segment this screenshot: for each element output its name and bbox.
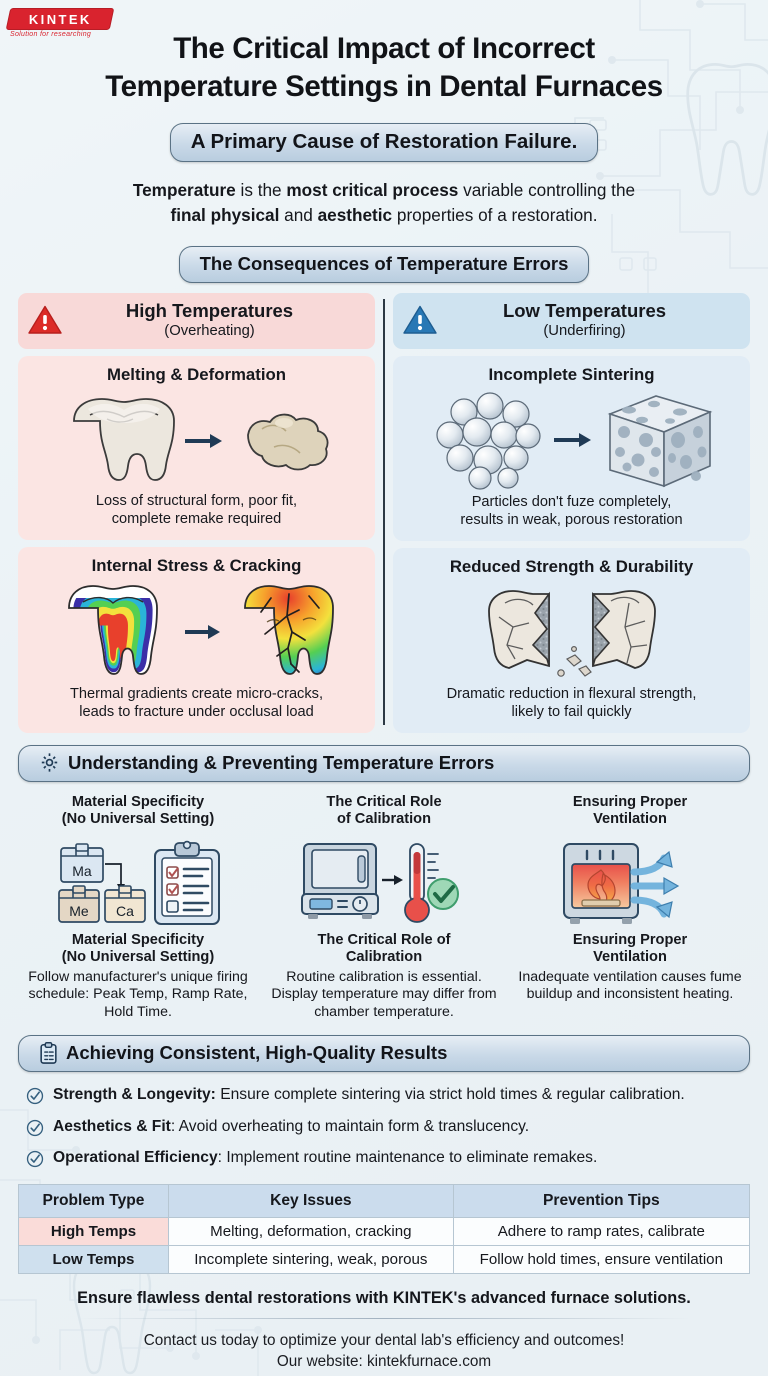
lead-bold-2: most critical process — [286, 180, 458, 200]
check-circle-icon — [26, 1085, 44, 1105]
title-line1: The Critical Role of — [318, 932, 451, 948]
prevention-column-calibration: The Critical Role of Calibration — [264, 794, 504, 1022]
table-row: Low Temps Incomplete sintering, weak, po… — [19, 1246, 750, 1274]
lead-bold-3: final physical — [170, 205, 279, 225]
gear-icon — [39, 752, 60, 773]
list-item-body: : Avoid overheating to maintain form & t… — [171, 1118, 529, 1135]
prevention-heading: The Critical Role of Calibration — [269, 794, 499, 829]
table-cell-tips: Adhere to ramp rates, calibrate — [453, 1218, 749, 1246]
high-temp-title: High Temperatures — [72, 301, 347, 321]
heading-line1: Material Specificity — [72, 794, 204, 810]
table-header-cell: Prevention Tips — [453, 1185, 749, 1218]
low-temp-subtitle: (Underfiring) — [447, 322, 722, 340]
check-circle-icon — [26, 1148, 44, 1168]
list-item: Strength & Longevity: Ensure complete si… — [26, 1085, 742, 1105]
list-item-label: Operational Efficiency — [53, 1149, 218, 1166]
list-item: Aesthetics & Fit: Avoid overheating to m… — [26, 1117, 742, 1137]
table-header-cell: Problem Type — [19, 1185, 169, 1218]
logo-text: KINTEK — [29, 12, 92, 27]
low-temperature-column: Low Temperatures (Underfiring) Incomplet… — [393, 293, 750, 733]
title-line1: Material Specificity — [72, 932, 204, 948]
card-melting-deformation: Melting & Deformation — [18, 356, 375, 540]
column-divider — [383, 299, 385, 725]
card-reduced-strength-durability: Reduced Strength & Durability — [393, 548, 750, 733]
card-caption: Thermal gradients create micro-cracks, l… — [26, 686, 367, 722]
card-caption: Particles don't fuze completely, results… — [401, 494, 742, 530]
low-temp-header: Low Temperatures (Underfiring) — [393, 293, 750, 350]
caption-line2: results in weak, porous restoration — [460, 512, 682, 528]
title-line2: (No Universal Setting) — [62, 949, 214, 965]
material-boxes-checklist-icon: Ma Me — [23, 834, 253, 930]
caption-line2: likely to fail quickly — [511, 704, 631, 720]
table-cell-type: High Temps — [19, 1218, 169, 1246]
footer-contact: Contact us today to optimize your dental… — [18, 1331, 750, 1372]
prevention-column-material-specificity: Material Specificity (No Universal Setti… — [18, 794, 258, 1022]
lead-text-4: properties of a restoration. — [392, 205, 597, 225]
results-section-label: Achieving Consistent, High-Quality Resul… — [66, 1042, 447, 1064]
prevention-body: Follow manufacturer's unique firing sche… — [23, 969, 253, 1022]
heading-line2: Ventilation — [593, 811, 667, 827]
card-caption: Dramatic reduction in flexural strength,… — [401, 686, 742, 722]
page-title-line1: The Critical Impact of Incorrect — [18, 30, 750, 68]
svg-text:Me: Me — [69, 903, 89, 919]
card-internal-stress-cracking: Internal Stress & Cracking — [18, 547, 375, 733]
card-title: Reduced Strength & Durability — [401, 557, 742, 577]
prevention-section-title: Understanding & Preventing Temperature E… — [18, 745, 750, 782]
caption-line1: Dramatic reduction in flexural strength, — [447, 686, 697, 702]
high-temp-subtitle: (Overheating) — [72, 322, 347, 340]
list-item-text: Operational Efficiency: Implement routin… — [53, 1148, 597, 1168]
heading-line1: Ensuring Proper — [573, 794, 687, 810]
prevention-heading: Material Specificity (No Universal Setti… — [23, 794, 253, 829]
card-caption: Loss of structural form, poor fit, compl… — [26, 493, 367, 529]
caption-line2: leads to fracture under occlusal load — [79, 704, 313, 720]
table-header-cell: Key Issues — [169, 1185, 454, 1218]
page-title-line2: Temperature Settings in Dental Furnaces — [18, 68, 750, 106]
prevention-heading: Ensuring Proper Ventilation — [515, 794, 745, 829]
prevention-section-label: Understanding & Preventing Temperature E… — [68, 752, 494, 774]
high-temperature-column: High Temperatures (Overheating) Melting … — [18, 293, 375, 733]
caption-line2: complete remake required — [112, 511, 282, 527]
cta-text: Ensure flawless dental restorations with… — [18, 1289, 750, 1308]
list-item-label: Aesthetics & Fit — [53, 1118, 171, 1135]
list-item-text: Aesthetics & Fit: Avoid overheating to m… — [53, 1117, 529, 1137]
page-title: The Critical Impact of Incorrect Tempera… — [18, 0, 750, 107]
title-line2: Calibration — [346, 949, 422, 965]
table-cell-issues: Incomplete sintering, weak, porous — [169, 1246, 454, 1274]
subtitle-pill: A Primary Cause of Restoration Failure. — [170, 123, 599, 162]
card-title: Internal Stress & Cracking — [26, 556, 367, 576]
high-temp-header: High Temperatures (Overheating) — [18, 293, 375, 350]
footer-contact-line1: Contact us today to optimize your dental… — [18, 1331, 750, 1352]
warning-triangle-red-icon — [28, 305, 62, 335]
footer-website: Our website: kintekfurnace.com — [18, 1352, 750, 1373]
list-item-text: Strength & Longevity: Ensure complete si… — [53, 1085, 685, 1105]
svg-text:Ma: Ma — [72, 863, 92, 879]
consequences-section-title: The Consequences of Temperature Errors — [179, 246, 590, 283]
brand-logo: KINTEK Solution for researching — [8, 8, 118, 38]
lead-text-1: is the — [236, 180, 287, 200]
lead-bold-4: aesthetic — [318, 205, 393, 225]
card-title: Incomplete Sintering — [401, 365, 742, 385]
list-item-body: : Implement routine maintenance to elimi… — [218, 1149, 598, 1166]
list-item-body: Ensure complete sintering via strict hol… — [216, 1086, 685, 1103]
card-incomplete-sintering: Incomplete Sintering — [393, 356, 750, 541]
furnace-thermometer-check-icon — [269, 834, 499, 930]
fractured-crown-icon — [401, 581, 742, 682]
caption-line1: Loss of structural form, poor fit, — [96, 493, 297, 509]
lead-text-2: variable controlling the — [458, 180, 635, 200]
title-line2: Ventilation — [593, 949, 667, 965]
prevention-column-ventilation: Ensuring Proper Ventilation — [510, 794, 750, 1022]
logo-tagline: Solution for researching — [8, 31, 118, 38]
prevention-body: Inadequate ventilation causes fume build… — [515, 969, 745, 1004]
table-header-row: Problem Type Key Issues Prevention Tips — [19, 1185, 750, 1218]
svg-text:Ca: Ca — [116, 903, 134, 919]
prevention-columns: Material Specificity (No Universal Setti… — [18, 794, 750, 1022]
particles-to-porous-cube-icon — [401, 389, 742, 490]
results-section-title: Achieving Consistent, High-Quality Resul… — [18, 1035, 750, 1072]
table-row: High Temps Melting, deformation, crackin… — [19, 1218, 750, 1246]
prevention-title: Ensuring Proper Ventilation — [515, 932, 745, 967]
lead-text-3: and — [279, 205, 317, 225]
title-line1: Ensuring Proper — [573, 932, 687, 948]
list-item-label: Strength & Longevity: — [53, 1086, 216, 1103]
results-list: Strength & Longevity: Ensure complete si… — [18, 1085, 750, 1168]
logo-badge: KINTEK — [6, 8, 115, 30]
footer-divider — [78, 1318, 690, 1319]
list-item: Operational Efficiency: Implement routin… — [26, 1148, 742, 1168]
heading-line1: The Critical Role — [326, 794, 441, 810]
prevention-title: The Critical Role of Calibration — [269, 932, 499, 967]
tooth-to-melted-blob-icon — [26, 389, 367, 489]
furnace-flame-airflow-icon — [515, 834, 745, 930]
table-cell-tips: Follow hold times, ensure ventilation — [453, 1246, 749, 1274]
lead-bold-1: Temperature — [133, 180, 236, 200]
card-title: Melting & Deformation — [26, 365, 367, 385]
caption-line1: Thermal gradients create micro-cracks, — [70, 686, 323, 702]
check-circle-icon — [26, 1117, 44, 1137]
summary-table: Problem Type Key Issues Prevention Tips … — [18, 1184, 750, 1274]
low-temp-title: Low Temperatures — [447, 301, 722, 321]
heading-line2: (No Universal Setting) — [62, 811, 214, 827]
consequences-section: High Temperatures (Overheating) Melting … — [18, 293, 750, 733]
thermal-gradient-tooth-cracked-icon — [26, 580, 367, 682]
table-cell-issues: Melting, deformation, cracking — [169, 1218, 454, 1246]
prevention-title: Material Specificity (No Universal Setti… — [23, 932, 253, 967]
table-cell-type: Low Temps — [19, 1246, 169, 1274]
lead-paragraph: Temperature is the most critical process… — [18, 178, 750, 228]
heading-line2: of Calibration — [337, 811, 431, 827]
caption-line1: Particles don't fuze completely, — [472, 494, 672, 510]
warning-triangle-blue-icon — [403, 305, 437, 335]
clipboard-icon — [39, 1042, 58, 1064]
prevention-body: Routine calibration is essential. Displa… — [269, 969, 499, 1022]
